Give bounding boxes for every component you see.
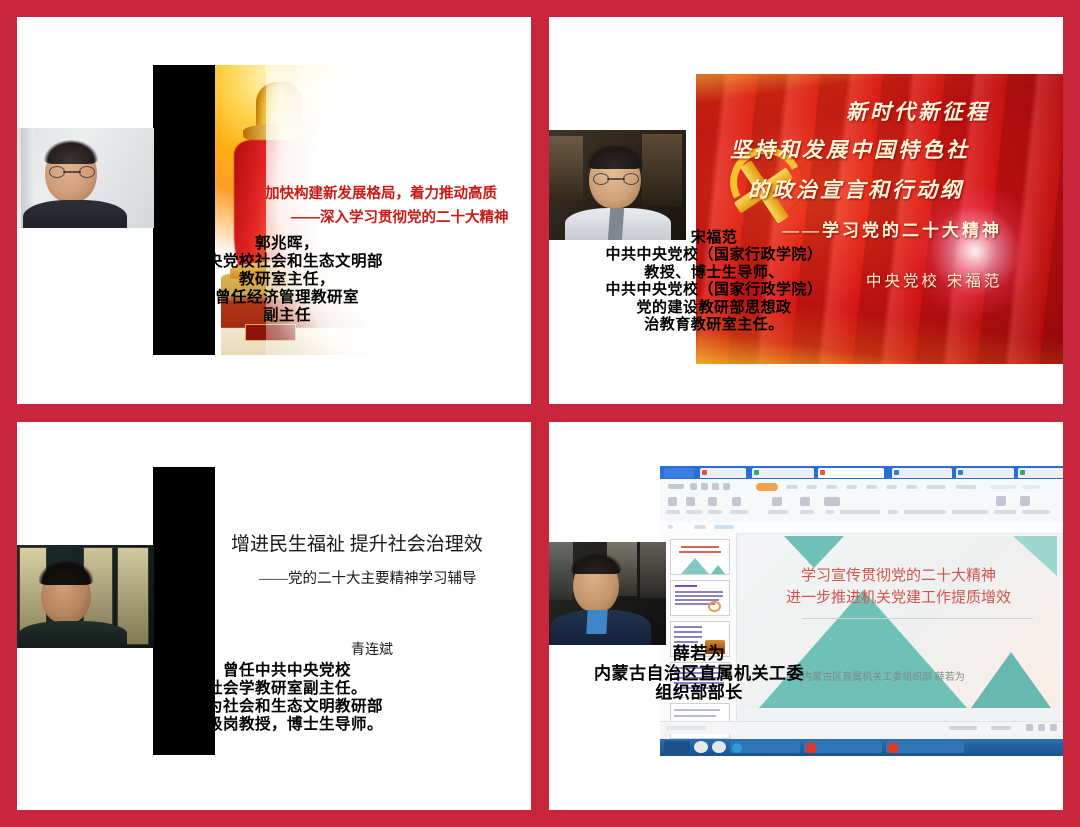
slide-author: 青连斌 bbox=[351, 639, 393, 659]
start-button[interactable] bbox=[664, 741, 690, 753]
wps-menu-row[interactable] bbox=[660, 483, 1063, 492]
taskbar-app-icon-2 bbox=[806, 743, 816, 753]
chrome-icon[interactable] bbox=[694, 741, 708, 753]
taskbar-app-icon-3 bbox=[888, 743, 898, 753]
video-conference-collage: 加快构建新发展格局，着力推动高质 ——深入学习贯彻党的二十大精神 郭兆晖， 中央… bbox=[0, 0, 1080, 827]
panel-top-left[interactable]: 加快构建新发展格局，着力推动高质 ——深入学习贯彻党的二十大精神 郭兆晖， 中央… bbox=[0, 0, 540, 413]
wps-toolbar-row[interactable] bbox=[660, 496, 1063, 520]
wps-tab-icon-1 bbox=[702, 470, 707, 475]
slide-thumbnail-2[interactable] bbox=[670, 580, 730, 616]
avatar-hair bbox=[587, 145, 643, 169]
slide-subtitle: ——党的二十大主要精神学习辅导 bbox=[259, 567, 477, 588]
wps-doc-tab-4[interactable] bbox=[956, 468, 1014, 478]
bookshelf-right bbox=[642, 134, 682, 206]
webcam-tile-song[interactable] bbox=[549, 130, 686, 240]
flag-title-line1: 新时代新征程 bbox=[846, 96, 990, 126]
slide-title-line2: ——深入学习贯彻党的二十大精神 bbox=[291, 209, 509, 228]
slide-title-line1: 加快构建新发展格局，着力推动高质 bbox=[265, 185, 497, 204]
webcam-tile-xue[interactable] bbox=[549, 542, 666, 645]
avatar-torso bbox=[23, 200, 127, 228]
flag-title-line3: 的政治宣言和行动纲 bbox=[748, 174, 964, 204]
glasses-icon bbox=[49, 166, 95, 178]
webcam-tile-guo[interactable] bbox=[17, 128, 154, 228]
wps-home-tab[interactable] bbox=[664, 468, 694, 478]
wps-status-bar[interactable] bbox=[660, 721, 1063, 734]
wps-office-window[interactable]: 学习宣传贯彻党的二十大精神 进一步推进机关党建工作提质增效 内蒙古区直属机关工委… bbox=[660, 466, 1063, 756]
avatar-torso bbox=[19, 621, 127, 648]
panel-bottom-left[interactable]: 增进民生福祉 提升社会治理效 ——党的二十大主要精神学习辅导 青连斌 曾任中共中… bbox=[0, 413, 540, 827]
flag-title-line2: 坚持和发展中国特色社 bbox=[730, 134, 970, 164]
slide-title: 增进民生福祉 提升社会治理效 bbox=[231, 529, 483, 556]
webcam-tile-qing[interactable] bbox=[17, 545, 154, 648]
flag-signature: 中央党校 宋福范 bbox=[866, 269, 1002, 291]
speaker-caption-qing: 曾任中共中央党校 社会学教研室副主任。 现为社会和生态文明教研部 二级岗教授，博… bbox=[107, 662, 467, 734]
wps-slide-title-line1: 学习宣传贯彻党的二十大精神 bbox=[740, 566, 1057, 586]
wps-tab-icon-6 bbox=[1020, 470, 1025, 475]
wps-doc-tab-3[interactable] bbox=[892, 468, 952, 478]
wps-tab-icon-5 bbox=[958, 470, 963, 475]
panel-bottom-right-surface: 学习宣传贯彻党的二十大精神 进一步推进机关党建工作提质增效 内蒙古区直属机关工委… bbox=[549, 422, 1063, 810]
edge-icon[interactable] bbox=[712, 741, 726, 753]
avatar-hair bbox=[44, 140, 98, 164]
panel-top-right-surface: 新时代新征程 坚持和发展中国特色社 的政治宣言和行动纲 ——学习党的二十大精神 … bbox=[549, 17, 1063, 404]
firework-burst-graphic bbox=[909, 184, 1041, 317]
wps-tab-strip[interactable] bbox=[660, 466, 1063, 479]
windows-taskbar[interactable] bbox=[660, 739, 1063, 756]
wps-tab-icon-2 bbox=[754, 470, 759, 475]
avatar-hair bbox=[571, 554, 621, 574]
shirt-collar bbox=[586, 610, 607, 634]
glasses-icon bbox=[593, 173, 639, 185]
speaker-caption-song: 宋福范 中共中央党校（国家行政学院） 教授、博士生导师、 中共中央党校（国家行政… bbox=[549, 229, 879, 333]
panel-top-right[interactable]: 新时代新征程 坚持和发展中国特色社 的政治宣言和行动纲 ——学习党的二十大精神 … bbox=[540, 0, 1080, 413]
speaker-caption-guo: 郭兆晖， 中央党校社会和生态文明部 教研室主任， 曾任经济管理教研室 副主任 bbox=[107, 235, 467, 325]
bookshelf-left bbox=[549, 136, 583, 200]
wps-tab-icon-4 bbox=[894, 470, 899, 475]
shelf-left bbox=[549, 542, 573, 600]
wps-doc-tab-2[interactable] bbox=[752, 468, 814, 478]
title-underline bbox=[802, 618, 1033, 619]
panel-bottom-left-surface: 增进民生福祉 提升社会治理效 ——党的二十大主要精神学习辅导 青连斌 曾任中共中… bbox=[17, 422, 531, 810]
panel-top-left-surface: 加快构建新发展格局，着力推动高质 ——深入学习贯彻党的二十大精神 郭兆晖， 中央… bbox=[17, 17, 531, 404]
wps-tab-icon-3 bbox=[820, 470, 825, 475]
taskbar-app-icon-1 bbox=[732, 743, 742, 753]
decor-triangle-top bbox=[784, 536, 844, 568]
panel-bottom-right[interactable]: 学习宣传贯彻党的二十大精神 进一步推进机关党建工作提质增效 内蒙古区直属机关工委… bbox=[540, 413, 1080, 827]
shelf-right bbox=[640, 542, 666, 598]
wps-doc-tab-active[interactable] bbox=[818, 468, 884, 478]
wps-ribbon[interactable] bbox=[660, 479, 1063, 523]
slide-thumbnail-1[interactable] bbox=[670, 539, 730, 575]
speaker-caption-xue: 薛若为 内蒙古自治区直属机关工委 组织部部长 bbox=[549, 644, 849, 703]
avatar-hair bbox=[39, 561, 93, 585]
wps-slide-title-line2: 进一步推进机关党建工作提质增效 bbox=[740, 588, 1057, 608]
